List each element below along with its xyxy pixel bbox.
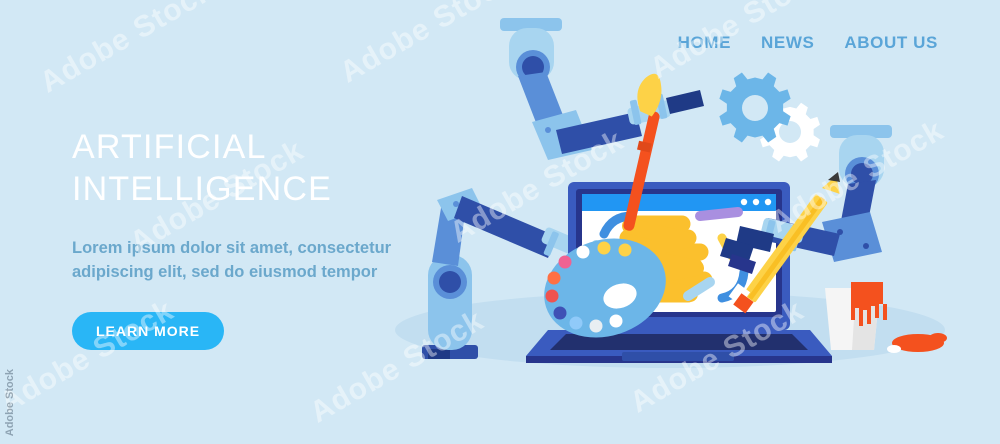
watermark-edge-label: Adobe Stock: [4, 369, 16, 436]
browser-dot: [741, 199, 747, 205]
browser-dot: [753, 199, 759, 205]
browser-dot: [765, 199, 771, 205]
watermark-text: Adobe Stock: [35, 0, 220, 100]
illustration-canvas: HOME NEWS ABOUT US ARTIFICIAL INTELLIGEN…: [0, 0, 1000, 444]
